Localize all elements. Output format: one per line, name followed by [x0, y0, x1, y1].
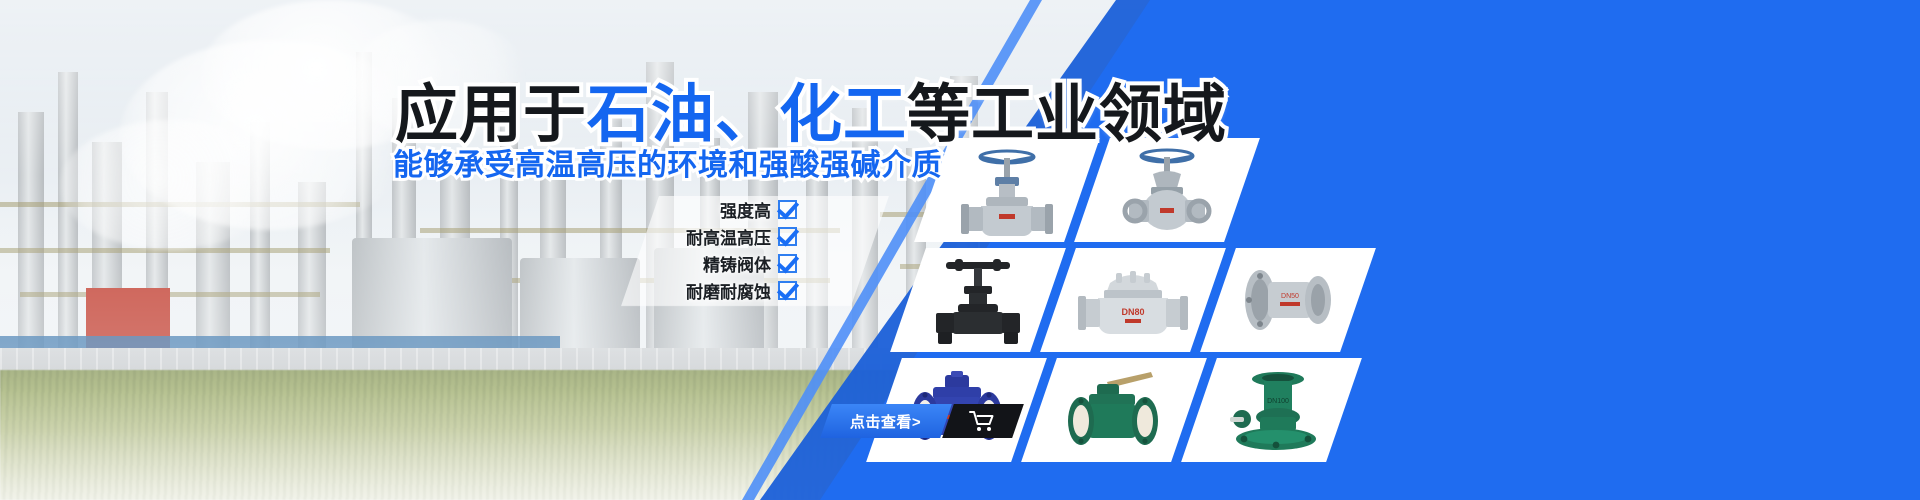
- promo-banner: DN80 DN50: [0, 0, 1920, 500]
- product-cell-flanged-check-valve-grey[interactable]: DN50: [1200, 248, 1376, 352]
- product-cell-flanged-valve-green[interactable]: DN100: [1181, 358, 1362, 462]
- flanged-valve-green-icon: DN100: [1220, 367, 1324, 453]
- cta-group[interactable]: 点击查看>: [826, 404, 1018, 438]
- svg-text:DN50: DN50: [1281, 293, 1299, 300]
- feature-label: 强度高: [720, 197, 771, 222]
- cta-label: 点击查看>: [850, 411, 921, 432]
- checkmark-icon: [778, 281, 797, 300]
- svg-text:DN80: DN80: [1121, 307, 1144, 317]
- flanged-check-valve-grey-icon: DN50: [1238, 260, 1338, 340]
- cart-button[interactable]: [942, 404, 1024, 438]
- checkmark-icon: [778, 254, 797, 273]
- feature-checklist: 强度高 耐高温高压 精铸阀体 耐磨耐腐蚀: [686, 197, 797, 303]
- feature-label: 耐高温高压: [686, 224, 771, 249]
- checkmark-icon: [778, 200, 797, 219]
- copy-block: 应用于石油、化工等工业领域 能够承受高温高压的环境和强酸强碱介质 强度高 耐高温…: [0, 0, 1100, 500]
- feature-item: 强度高: [720, 197, 797, 222]
- feature-label: 耐磨耐腐蚀: [686, 278, 771, 303]
- view-details-button[interactable]: 点击查看>: [820, 404, 952, 438]
- shopping-cart-icon: [969, 409, 997, 433]
- headline-suffix: 等工业领域: [907, 80, 1227, 150]
- svg-text:DN100: DN100: [1267, 398, 1289, 405]
- checkmark-icon: [778, 227, 797, 246]
- feature-item: 耐高温高压: [686, 224, 797, 249]
- feature-item: 耐磨耐腐蚀: [686, 278, 797, 303]
- globe-valve-flanged-icon: [1115, 144, 1219, 236]
- feature-label: 精铸阀体: [703, 251, 771, 276]
- subtitle: 能够承受高温高压的环境和强酸强碱介质: [393, 140, 942, 184]
- feature-item: 精铸阀体: [703, 251, 797, 276]
